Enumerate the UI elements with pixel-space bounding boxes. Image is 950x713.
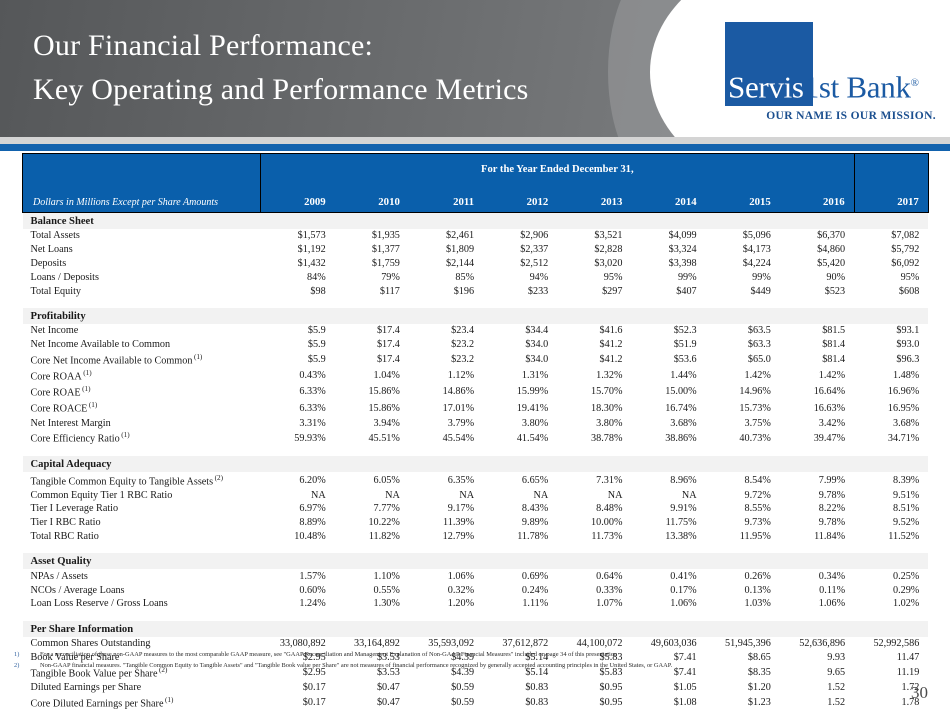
footnote-marker: (1) [81, 385, 91, 393]
cell-2010: $17.4 [335, 324, 409, 338]
table-row: Total Equity$98$117$196$233$297$407$449$… [23, 284, 929, 298]
cell-2009: 84% [261, 270, 335, 284]
row-label: Total RBC Ratio [23, 530, 261, 544]
column-header-year-2014: 2014 [631, 184, 705, 213]
cell-2017: 16.95% [854, 400, 928, 416]
table-row: Tangible Common Equity to Tangible Asset… [23, 472, 929, 488]
cell-2011: 85% [409, 270, 483, 284]
row-label-text: Total RBC Ratio [31, 531, 99, 542]
cell-2013: $41.2 [557, 351, 631, 367]
row-label: Core Efficiency Ratio(1) [23, 430, 261, 446]
cell-2017: 95% [854, 270, 928, 284]
divider-blue [0, 144, 950, 151]
row-label-text: Net Interest Margin [31, 418, 111, 429]
cell-2016: 90% [780, 270, 854, 284]
logo-lockup: Servis1st Bank® [704, 22, 940, 106]
cell-2010: 6.05% [335, 472, 409, 488]
row-label-text: Net Loans [31, 244, 73, 255]
cell-2013: 18.30% [557, 400, 631, 416]
cell-2017: 11.52% [854, 530, 928, 544]
cell-2015: $63.3 [706, 338, 780, 352]
page-title-line-2: Key Operating and Performance Metrics [33, 68, 529, 112]
cell-2015: 9.73% [706, 516, 780, 530]
cell-2014: 16.74% [631, 400, 705, 416]
logo-wordmark-1st-bank: 1st Bank [804, 69, 911, 104]
cell-2012: 0.69% [483, 569, 557, 583]
section-gap [23, 298, 929, 308]
row-label: Core Diluted Earnings per Share(1) [23, 694, 261, 710]
cell-2015: 40.73% [706, 430, 780, 446]
logo-wordmark: Servis1st Bank® [728, 68, 919, 102]
financial-metrics-table: For the Year Ended December 31, Dollars … [22, 153, 929, 710]
row-label: Core ROACE(1) [23, 400, 261, 416]
section-header-row: Asset Quality [23, 553, 929, 570]
cell-2016: $81.5 [780, 324, 854, 338]
cell-2009: $0.17 [261, 694, 335, 710]
cell-2013: 8.48% [557, 502, 631, 516]
row-label: Core ROAA(1) [23, 368, 261, 384]
cell-2015: 15.73% [706, 400, 780, 416]
cell-2015: $449 [706, 284, 780, 298]
table-row: Core Net Income Available to Common(1)$5… [23, 351, 929, 367]
cell-2012: 41.54% [483, 430, 557, 446]
page-title: Our Financial Performance: Key Operating… [33, 24, 529, 112]
table-row: Core ROAA(1)0.43%1.04%1.12%1.31%1.32%1.4… [23, 368, 929, 384]
cell-2012: 11.78% [483, 530, 557, 544]
row-label: Tangible Common Equity to Tangible Asset… [23, 472, 261, 488]
cell-2013: 1.32% [557, 368, 631, 384]
table-row: Core ROAE(1)6.33%15.86%14.86%15.99%15.70… [23, 384, 929, 400]
section-header-row: Capital Adequacy [23, 456, 929, 473]
cell-2010: 1.04% [335, 368, 409, 384]
brand-logo: Servis1st Bank® OUR NAME IS OUR MISSION. [702, 22, 940, 111]
cell-2014: $52.3 [631, 324, 705, 338]
cell-2009: 6.97% [261, 502, 335, 516]
footnote-row: 2)Non-GAAP financial measures. "Tangible… [12, 661, 912, 672]
cell-2017: 0.29% [854, 583, 928, 597]
row-label: Net Loans [23, 243, 261, 257]
header-units-label: Dollars in Millions Except per Share Amo… [23, 184, 261, 213]
row-label: Common Equity Tier 1 RBC Ratio [23, 488, 261, 502]
cell-2010: 45.51% [335, 430, 409, 446]
cell-2017: 8.51% [854, 502, 928, 516]
cell-2016: $81.4 [780, 338, 854, 352]
section-gap-cell [23, 611, 929, 621]
financial-metrics-table-container: For the Year Ended December 31, Dollars … [22, 153, 928, 710]
section-header-row: Per Share Information [23, 620, 929, 637]
row-label-text: Common Equity Tier 1 RBC Ratio [31, 490, 173, 501]
row-label: Loans / Deposits [23, 270, 261, 284]
cell-2010: 1.30% [335, 597, 409, 611]
cell-2016: 1.42% [780, 368, 854, 384]
cell-2016: 7.99% [780, 472, 854, 488]
cell-2009: $98 [261, 284, 335, 298]
cell-2009: $1,192 [261, 243, 335, 257]
footnote-text: For a reconciliation of these non-GAAP m… [40, 650, 912, 661]
cell-2016: $81.4 [780, 351, 854, 367]
cell-2013: 11.73% [557, 530, 631, 544]
cell-2017: 3.68% [854, 416, 928, 430]
cell-2014: 15.00% [631, 384, 705, 400]
cell-2015: 1.03% [706, 597, 780, 611]
table-row: NPAs / Assets1.57%1.10%1.06%0.69%0.64%0.… [23, 569, 929, 583]
cell-2009: 0.43% [261, 368, 335, 384]
cell-2010: $17.4 [335, 351, 409, 367]
section-gap-cell [23, 446, 929, 456]
cell-2017: 1.02% [854, 597, 928, 611]
table-row: Tier I RBC Ratio8.89%10.22%11.39%9.89%10… [23, 516, 929, 530]
cell-2015: 9.72% [706, 488, 780, 502]
cell-2016: 9.78% [780, 488, 854, 502]
cell-2013: 10.00% [557, 516, 631, 530]
section-title: Asset Quality [23, 553, 929, 570]
row-label-text: Deposits [31, 258, 67, 269]
header-current-year-span [854, 154, 928, 185]
row-label-text: NPAs / Assets [31, 571, 88, 582]
cell-2009: $0.17 [261, 680, 335, 694]
cell-2009: $1,432 [261, 257, 335, 271]
cell-2014: $4,099 [631, 229, 705, 243]
cell-2010: 1.10% [335, 569, 409, 583]
cell-2011: $23.2 [409, 338, 483, 352]
cell-2012: $233 [483, 284, 557, 298]
cell-2011: 0.32% [409, 583, 483, 597]
cell-2011: 1.12% [409, 368, 483, 384]
footnote-marker: (1) [82, 369, 92, 377]
row-label-text: Net Income [31, 325, 79, 336]
row-label-text: Core ROACE [31, 404, 88, 415]
cell-2009: $5.9 [261, 338, 335, 352]
page-title-line-1: Our Financial Performance: [33, 24, 529, 68]
cell-2017: 9.51% [854, 488, 928, 502]
cell-2015: 99% [706, 270, 780, 284]
cell-2011: 17.01% [409, 400, 483, 416]
divider-gray [0, 137, 950, 144]
table-row: Core ROACE(1)6.33%15.86%17.01%19.41%18.3… [23, 400, 929, 416]
cell-2015: 1.42% [706, 368, 780, 384]
cell-2009: 59.93% [261, 430, 335, 446]
cell-2013: $3,521 [557, 229, 631, 243]
section-gap [23, 446, 929, 456]
table-row: Common Equity Tier 1 RBC RatioNANANANANA… [23, 488, 929, 502]
section-header-row: Balance Sheet [23, 213, 929, 230]
column-header-year-2009: 2009 [261, 184, 335, 213]
cell-2011: $196 [409, 284, 483, 298]
cell-2011: 3.79% [409, 416, 483, 430]
cell-2013: $41.2 [557, 338, 631, 352]
cell-2009: $5.9 [261, 351, 335, 367]
cell-2010: 15.86% [335, 384, 409, 400]
row-label-text: Core Diluted Earnings per Share [31, 698, 164, 709]
cell-2010: 15.86% [335, 400, 409, 416]
cell-2012: 1.31% [483, 368, 557, 384]
cell-2015: $65.0 [706, 351, 780, 367]
cell-2009: 33,080,892 [261, 637, 335, 651]
cell-2015: $4,173 [706, 243, 780, 257]
section-title: Balance Sheet [23, 213, 929, 230]
cell-2011: $2,461 [409, 229, 483, 243]
cell-2010: $1,935 [335, 229, 409, 243]
row-label-text: Tier I Leverage Ratio [31, 503, 119, 514]
cell-2014: 13.38% [631, 530, 705, 544]
cell-2011: 45.54% [409, 430, 483, 446]
cell-2012: $0.83 [483, 694, 557, 710]
cell-2010: 11.82% [335, 530, 409, 544]
cell-2012: 1.11% [483, 597, 557, 611]
row-label-text: Tangible Common Equity to Tangible Asset… [31, 476, 214, 487]
row-label-text: Core Efficiency Ratio [31, 434, 120, 445]
row-label-text: NCOs / Average Loans [31, 585, 125, 596]
row-label-text: Common Shares Outstanding [31, 638, 151, 649]
cell-2017: 8.39% [854, 472, 928, 488]
section-title: Per Share Information [23, 620, 929, 637]
cell-2012: 19.41% [483, 400, 557, 416]
cell-2010: 7.77% [335, 502, 409, 516]
row-label-text: Core ROAE [31, 388, 81, 399]
cell-2010: 33,164,892 [335, 637, 409, 651]
cell-2012: $2,337 [483, 243, 557, 257]
cell-2013: NA [557, 488, 631, 502]
cell-2016: 0.11% [780, 583, 854, 597]
cell-2012: $0.83 [483, 680, 557, 694]
row-label-text: Tier I RBC Ratio [31, 517, 101, 528]
cell-2017: 1.48% [854, 368, 928, 384]
cell-2012: $2,906 [483, 229, 557, 243]
cell-2010: NA [335, 488, 409, 502]
cell-2015: $63.5 [706, 324, 780, 338]
cell-2016: 52,636,896 [780, 637, 854, 651]
cell-2013: 38.78% [557, 430, 631, 446]
cell-2016: 3.42% [780, 416, 854, 430]
cell-2009: 6.33% [261, 400, 335, 416]
cell-2016: 9.78% [780, 516, 854, 530]
cell-2011: $0.59 [409, 680, 483, 694]
cell-2009: 10.48% [261, 530, 335, 544]
cell-2010: $0.47 [335, 694, 409, 710]
cell-2017: 52,992,586 [854, 637, 928, 651]
cell-2016: $4,860 [780, 243, 854, 257]
cell-2010: $1,759 [335, 257, 409, 271]
table-row: Core Efficiency Ratio(1)59.93%45.51%45.5… [23, 430, 929, 446]
cell-2011: $23.4 [409, 324, 483, 338]
row-label: Deposits [23, 257, 261, 271]
cell-2012: $34.0 [483, 351, 557, 367]
section-title: Profitability [23, 307, 929, 324]
cell-2015: 8.54% [706, 472, 780, 488]
cell-2016: 1.52 [780, 694, 854, 710]
cell-2013: 95% [557, 270, 631, 284]
row-label-text: Core ROAA [31, 371, 82, 382]
footnote-number: 1) [12, 650, 40, 661]
section-gap [23, 611, 929, 621]
table-row: Loans / Deposits84%79%85%94%95%99%99%90%… [23, 270, 929, 284]
row-label: Tier I Leverage Ratio [23, 502, 261, 516]
cell-2013: $297 [557, 284, 631, 298]
cell-2017: $93.0 [854, 338, 928, 352]
cell-2015: $1.23 [706, 694, 780, 710]
cell-2011: NA [409, 488, 483, 502]
logo-tagline: OUR NAME IS OUR MISSION. [704, 110, 936, 122]
footnotes: 1)For a reconciliation of these non-GAAP… [12, 650, 912, 671]
cell-2013: $41.6 [557, 324, 631, 338]
column-header-year-2012: 2012 [483, 184, 557, 213]
cell-2014: 0.17% [631, 583, 705, 597]
cell-2010: $0.47 [335, 680, 409, 694]
cell-2014: 99% [631, 270, 705, 284]
cell-2013: $0.95 [557, 694, 631, 710]
section-gap [23, 543, 929, 553]
cell-2015: $4,224 [706, 257, 780, 271]
cell-2016: $5,420 [780, 257, 854, 271]
row-label: Tier I RBC Ratio [23, 516, 261, 530]
cell-2014: $3,398 [631, 257, 705, 271]
section-gap-cell [23, 543, 929, 553]
cell-2013: $3,020 [557, 257, 631, 271]
cell-2009: NA [261, 488, 335, 502]
cell-2015: 0.13% [706, 583, 780, 597]
row-label: NPAs / Assets [23, 569, 261, 583]
table-row: Net Interest Margin3.31%3.94%3.79%3.80%3… [23, 416, 929, 430]
row-label-text: Total Assets [31, 230, 80, 241]
cell-2015: 51,945,396 [706, 637, 780, 651]
footnote-marker: (1) [192, 353, 202, 361]
cell-2009: $5.9 [261, 324, 335, 338]
cell-2014: 8.96% [631, 472, 705, 488]
cell-2017: $7,082 [854, 229, 928, 243]
cell-2014: 11.75% [631, 516, 705, 530]
cell-2014: $407 [631, 284, 705, 298]
cell-2011: 1.20% [409, 597, 483, 611]
cell-2009: 1.57% [261, 569, 335, 583]
cell-2016: 1.52 [780, 680, 854, 694]
table-header-span-row: For the Year Ended December 31, [23, 154, 929, 185]
column-header-year-2013: 2013 [557, 184, 631, 213]
cell-2009: 1.24% [261, 597, 335, 611]
cell-2015: 3.75% [706, 416, 780, 430]
cell-2012: $34.0 [483, 338, 557, 352]
cell-2017: $608 [854, 284, 928, 298]
cell-2011: $23.2 [409, 351, 483, 367]
cell-2015: 14.96% [706, 384, 780, 400]
cell-2010: 10.22% [335, 516, 409, 530]
cell-2010: 0.55% [335, 583, 409, 597]
cell-2014: $53.6 [631, 351, 705, 367]
cell-2010: 3.94% [335, 416, 409, 430]
cell-2013: 0.33% [557, 583, 631, 597]
row-label: Net Income [23, 324, 261, 338]
cell-2014: NA [631, 488, 705, 502]
section-header-row: Profitability [23, 307, 929, 324]
cell-2011: 35,593,092 [409, 637, 483, 651]
cell-2014: $1.05 [631, 680, 705, 694]
header-corner-cell [23, 154, 261, 185]
table-header-year-row: Dollars in Millions Except per Share Amo… [23, 184, 929, 213]
cell-2013: 3.80% [557, 416, 631, 430]
row-label: Net Interest Margin [23, 416, 261, 430]
cell-2015: $1.20 [706, 680, 780, 694]
table-row: Net Income$5.9$17.4$23.4$34.4$41.6$52.3$… [23, 324, 929, 338]
cell-2011: $2,144 [409, 257, 483, 271]
row-label: NCOs / Average Loans [23, 583, 261, 597]
cell-2016: $6,370 [780, 229, 854, 243]
cell-2009: $1,573 [261, 229, 335, 243]
cell-2011: $1,809 [409, 243, 483, 257]
row-label: Total Assets [23, 229, 261, 243]
cell-2011: 6.35% [409, 472, 483, 488]
column-header-year-2017: 2017 [854, 184, 928, 213]
cell-2013: 44,100,072 [557, 637, 631, 651]
cell-2017: 0.25% [854, 569, 928, 583]
table-row: Total Assets$1,573$1,935$2,461$2,906$3,5… [23, 229, 929, 243]
table-row: Net Loans$1,192$1,377$1,809$2,337$2,828$… [23, 243, 929, 257]
table-row: Net Income Available to Common$5.9$17.4$… [23, 338, 929, 352]
row-label: Common Shares Outstanding [23, 637, 261, 651]
cell-2014: 1.06% [631, 597, 705, 611]
footnote-marker: (2) [213, 474, 223, 482]
cell-2014: 1.44% [631, 368, 705, 384]
cell-2016: 8.22% [780, 502, 854, 516]
row-label: Core Net Income Available to Common(1) [23, 351, 261, 367]
cell-2016: 39.47% [780, 430, 854, 446]
column-header-year-2010: 2010 [335, 184, 409, 213]
cell-2014: 49,603,036 [631, 637, 705, 651]
cell-2013: 0.64% [557, 569, 631, 583]
cell-2012: 94% [483, 270, 557, 284]
cell-2012: 0.24% [483, 583, 557, 597]
footnote-row: 1)For a reconciliation of these non-GAAP… [12, 650, 912, 661]
column-header-year-2015: 2015 [706, 184, 780, 213]
cell-2009: 3.31% [261, 416, 335, 430]
cell-2012: $2,512 [483, 257, 557, 271]
cell-2017: $5,792 [854, 243, 928, 257]
cell-2013: 7.31% [557, 472, 631, 488]
cell-2010: $1,377 [335, 243, 409, 257]
cell-2011: 1.06% [409, 569, 483, 583]
cell-2016: 1.06% [780, 597, 854, 611]
cell-2014: 9.91% [631, 502, 705, 516]
cell-2015: 11.95% [706, 530, 780, 544]
cell-2016: 11.84% [780, 530, 854, 544]
row-label: Total Equity [23, 284, 261, 298]
cell-2010: 79% [335, 270, 409, 284]
cell-2016: 16.64% [780, 384, 854, 400]
cell-2014: $51.9 [631, 338, 705, 352]
footnote-marker: (1) [163, 696, 173, 704]
cell-2012: 8.43% [483, 502, 557, 516]
table-row: Total RBC Ratio10.48%11.82%12.79%11.78%1… [23, 530, 929, 544]
row-label-text: Loans / Deposits [31, 272, 99, 283]
cell-2016: 0.34% [780, 569, 854, 583]
table-body: Balance SheetTotal Assets$1,573$1,935$2,… [23, 213, 929, 711]
row-label-text: Net Income Available to Common [31, 339, 171, 350]
column-header-year-2011: 2011 [409, 184, 483, 213]
cell-2012: $34.4 [483, 324, 557, 338]
cell-2012: 9.89% [483, 516, 557, 530]
table-row: Core Diluted Earnings per Share(1)$0.17$… [23, 694, 929, 710]
cell-2012: 3.80% [483, 416, 557, 430]
cell-2017: 34.71% [854, 430, 928, 446]
footnote-text: Non-GAAP financial measures. "Tangible C… [40, 661, 912, 672]
cell-2013: $2,828 [557, 243, 631, 257]
row-label: Core ROAE(1) [23, 384, 261, 400]
row-label: Net Income Available to Common [23, 338, 261, 352]
cell-2015: 0.26% [706, 569, 780, 583]
cell-2012: 37,612,872 [483, 637, 557, 651]
cell-2014: 38.86% [631, 430, 705, 446]
cell-2011: 11.39% [409, 516, 483, 530]
header-period-span: For the Year Ended December 31, [261, 154, 855, 185]
row-label: Loan Loss Reserve / Gross Loans [23, 597, 261, 611]
